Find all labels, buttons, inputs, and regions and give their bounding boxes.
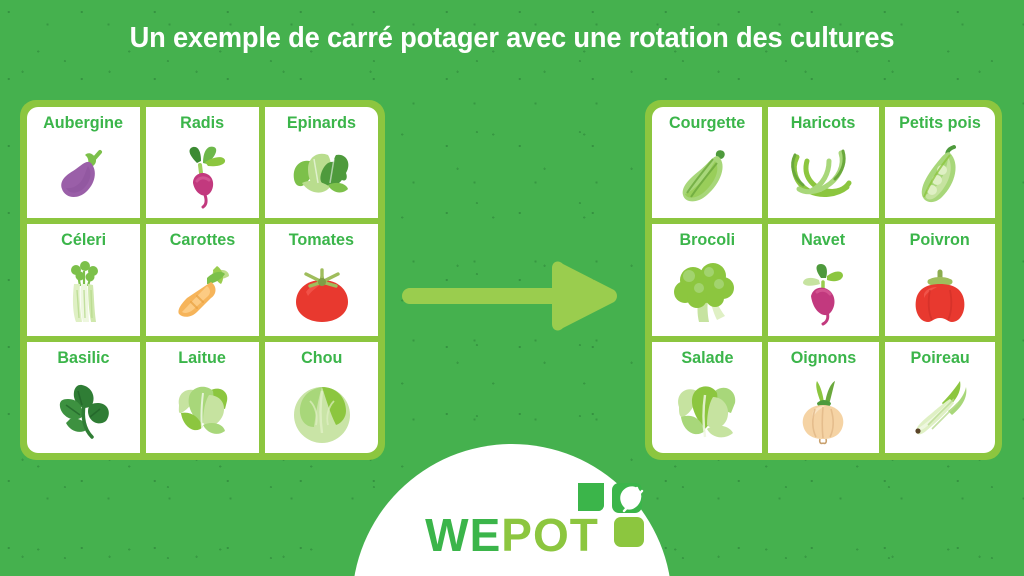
cell-label: Poivron [910, 231, 970, 248]
grid-cell-poireau[interactable]: Poireau [885, 342, 995, 453]
grid-cell-chou[interactable]: Chou [265, 342, 378, 453]
wepot-square-mark [574, 475, 654, 555]
potager-grid-after: Courgette Haricots [645, 100, 1002, 460]
cell-label: Petits pois [899, 114, 981, 131]
grid-cell-basilic[interactable]: Basilic [27, 342, 140, 453]
grid-cell-epinards[interactable]: Epinards [265, 107, 378, 218]
cell-label: Brocoli [679, 231, 735, 248]
spinach-icon [265, 131, 378, 218]
eggplant-icon [27, 131, 140, 218]
cell-label: Salade [681, 349, 733, 366]
cell-label: Haricots [791, 114, 856, 131]
grid-cell-petits-pois[interactable]: Petits pois [885, 107, 995, 218]
grid-cell-navet[interactable]: Navet [768, 224, 878, 335]
bell-pepper-icon [885, 248, 995, 335]
wepot-logo-text-we: WE [425, 509, 501, 561]
slide-root: Un exemple de carré potager avec une rot… [0, 0, 1024, 576]
basil-icon [27, 366, 140, 453]
salad-icon [652, 366, 762, 453]
cell-label: Chou [301, 349, 342, 366]
grid-cell-laitue[interactable]: Laitue [146, 342, 259, 453]
tomato-icon [265, 248, 378, 335]
grid-cell-courgette[interactable]: Courgette [652, 107, 762, 218]
grid-cell-carottes[interactable]: Carottes [146, 224, 259, 335]
broccoli-icon [652, 248, 762, 335]
page-title: Un exemple de carré potager avec une rot… [31, 22, 994, 55]
cell-label: Oignons [791, 349, 857, 366]
grid-cell-brocoli[interactable]: Brocoli [652, 224, 762, 335]
green-beans-icon [768, 131, 878, 218]
grid-cell-haricots[interactable]: Haricots [768, 107, 878, 218]
cell-label: Radis [181, 114, 225, 131]
cell-label: Carottes [170, 231, 236, 248]
grid-cell-tomates[interactable]: Tomates [265, 224, 378, 335]
grid-cell-poivron[interactable]: Poivron [885, 224, 995, 335]
pea-pod-icon [885, 131, 995, 218]
cell-label: Céleri [61, 231, 106, 248]
carrot-icon [146, 248, 259, 335]
cabbage-icon [265, 366, 378, 453]
radish-icon [146, 131, 259, 218]
cell-label: Epinards [287, 114, 356, 131]
wepot-logo-text: WEPOT [425, 512, 599, 558]
cell-label: Basilic [57, 349, 109, 366]
grid-cell-celeri[interactable]: Céleri [27, 224, 140, 335]
cell-label: Navet [801, 231, 845, 248]
turnip-icon [768, 248, 878, 335]
potager-grid-before: Aubergine Radis [20, 100, 385, 460]
rotation-arrow [402, 258, 622, 334]
cell-label: Laitue [179, 349, 227, 366]
zucchini-icon [652, 131, 762, 218]
cell-label: Poireau [910, 349, 969, 366]
onion-icon [768, 366, 878, 453]
grid-cell-oignons[interactable]: Oignons [768, 342, 878, 453]
celery-icon [27, 248, 140, 335]
cell-label: Tomates [289, 231, 354, 248]
grid-cell-aubergine[interactable]: Aubergine [27, 107, 140, 218]
leek-icon [885, 366, 995, 453]
grid-cell-radis[interactable]: Radis [146, 107, 259, 218]
grid-cell-salade[interactable]: Salade [652, 342, 762, 453]
lettuce-icon [146, 366, 259, 453]
cell-label: Courgette [669, 114, 745, 131]
cell-label: Aubergine [44, 114, 124, 131]
